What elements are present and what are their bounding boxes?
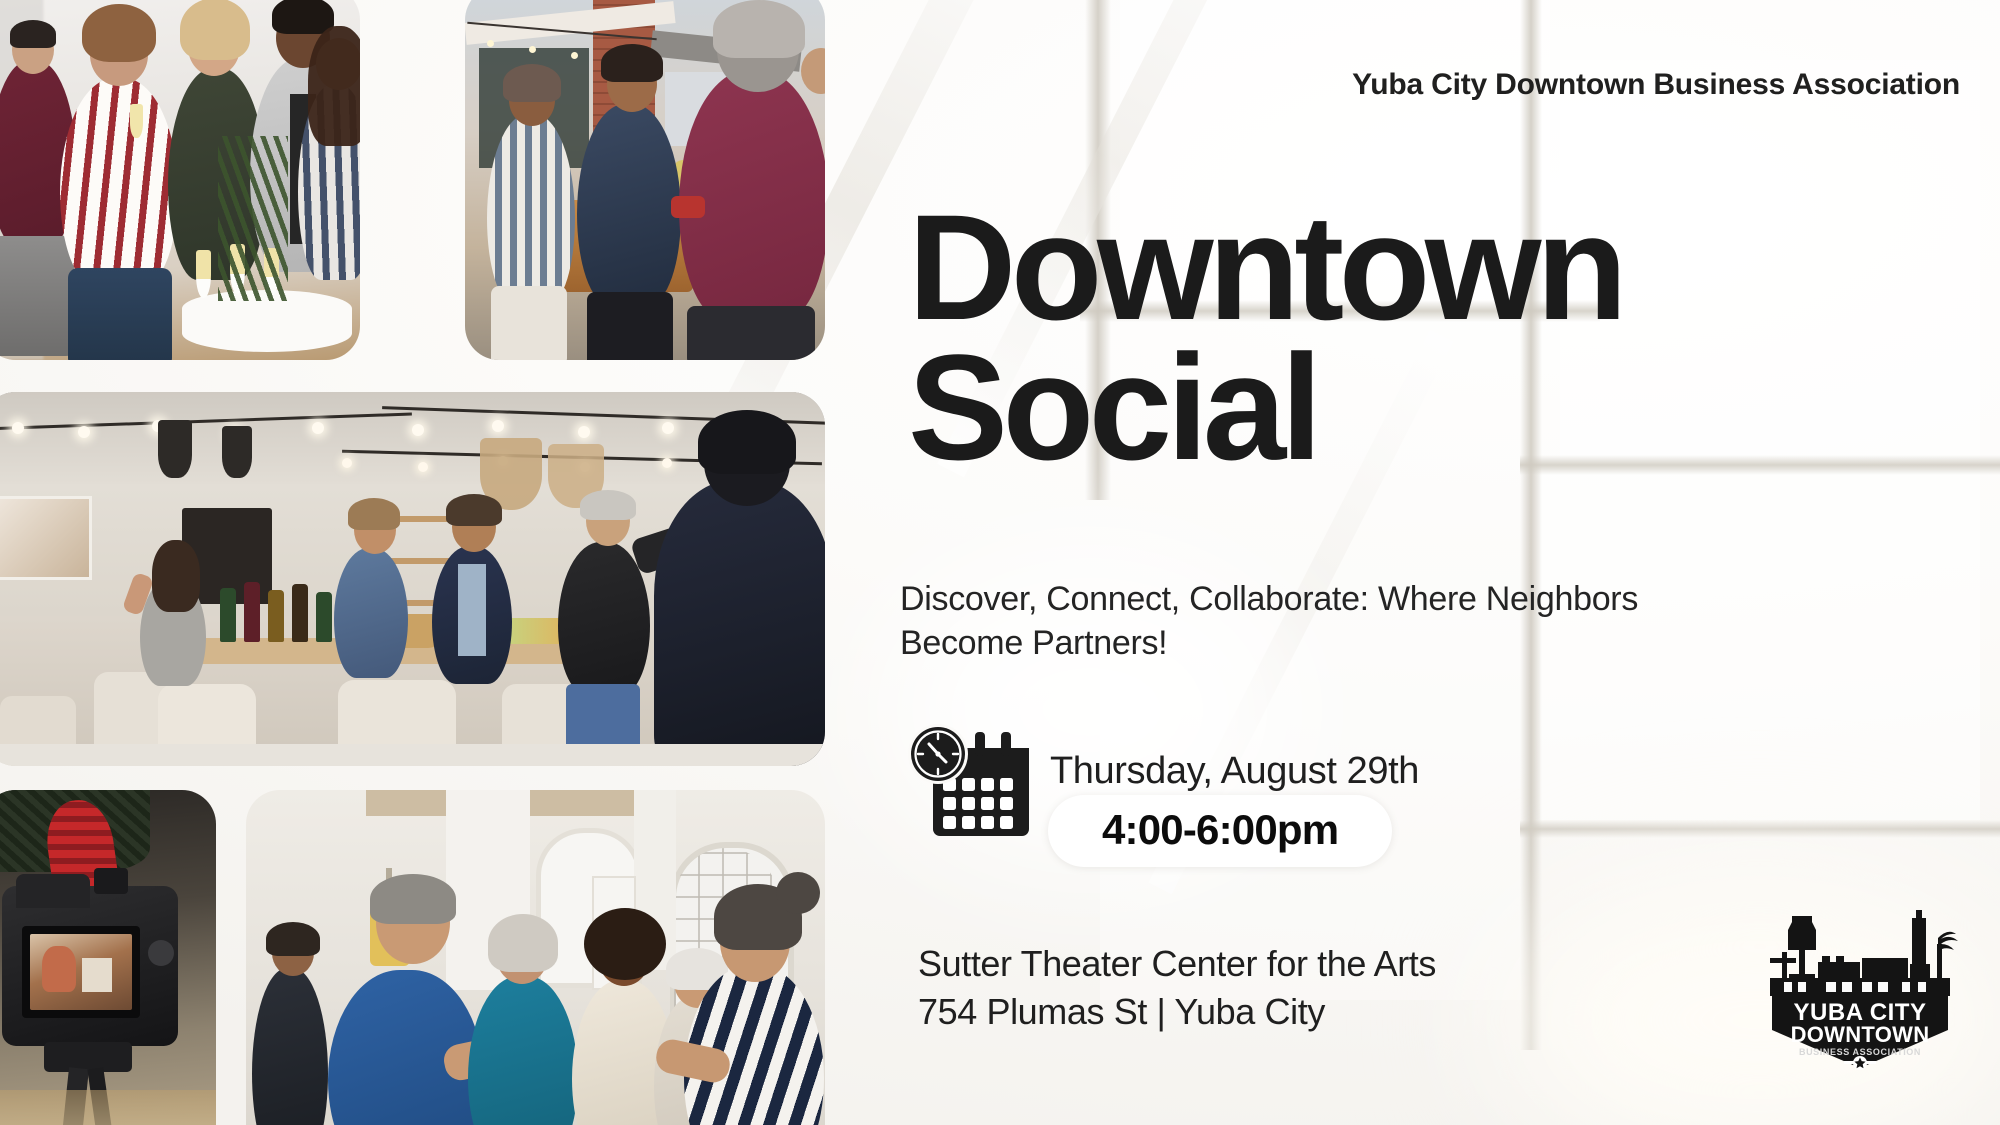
collage-photo-showroom-gathering	[0, 392, 825, 766]
tagline-line-1: Discover, Connect, Collaborate: Where Ne…	[900, 580, 1638, 618]
venue-name: Sutter Theater Center for the Arts	[918, 943, 1436, 984]
tagline-line-2: Become Partners!	[900, 624, 1167, 662]
tagline: Discover, Connect, Collaborate: Where Ne…	[900, 578, 1750, 665]
venue-address: 754 Plumas St | Yuba City	[918, 988, 1678, 1036]
venue-block: Sutter Theater Center for the Arts 754 P…	[918, 940, 1678, 1035]
logo-line-2: DOWNTOWN	[1791, 1022, 1930, 1047]
event-datetime-block: Thursday, August 29th 4:00-6:00pm	[905, 718, 1605, 848]
page-title: Downtown Social	[908, 198, 1622, 477]
collage-photo-camera-filming	[0, 790, 216, 1125]
title-line-2: Social	[908, 338, 1622, 478]
calendar-clock-icon	[905, 722, 1033, 840]
photo-collage	[0, 0, 830, 1125]
collage-photo-outdoor-handshake	[465, 0, 825, 360]
event-time-badge: 4:00-6:00pm	[1048, 795, 1392, 867]
collage-photo-group-greeting	[246, 790, 825, 1125]
collage-photo-networking-champagne	[0, 0, 360, 360]
logo-line-3: BUSINESS ASSOCIATION	[1799, 1047, 1921, 1057]
association-name: Yuba City Downtown Business Association	[1352, 68, 1960, 102]
event-flyer: Yuba City Downtown Business Association …	[0, 0, 2000, 1125]
yuba-city-downtown-logo: YUBA CITY DOWNTOWN BUSINESS ASSOCIATION	[1762, 900, 1958, 1070]
event-date: Thursday, August 29th	[1050, 750, 1419, 793]
